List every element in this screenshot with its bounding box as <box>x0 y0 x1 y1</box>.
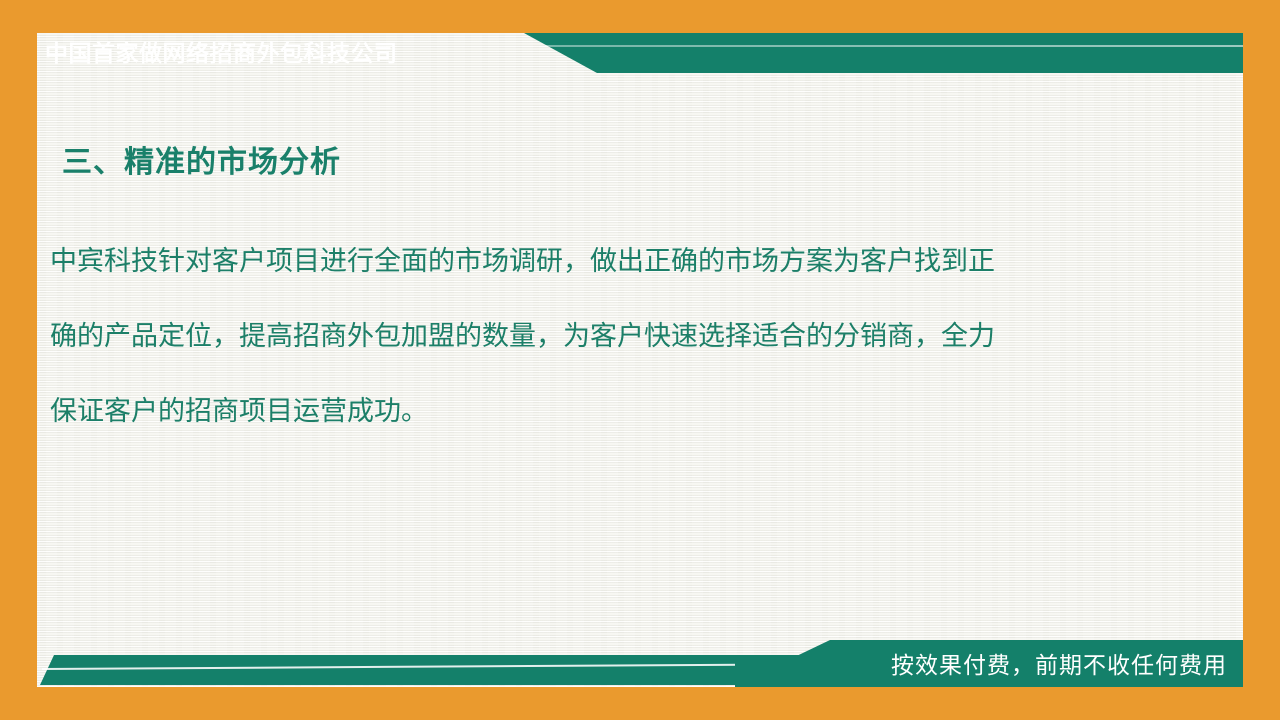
slide-canvas: 中国首家做网络招商外包科技公司 三、精准的市场分析 中宾科技针对客户项目进行全面… <box>0 0 1280 720</box>
footer-decor-bar-left <box>40 655 800 685</box>
frame-border-top <box>0 0 1280 33</box>
body-paragraph-line: 中宾科技针对客户项目进行全面的市场调研，做出正确的市场方案为客户找到正 <box>50 224 1182 299</box>
header-title: 中国首家做网络招商外包科技公司 <box>45 34 398 72</box>
body-paragraph: 中宾科技针对客户项目进行全面的市场调研，做出正确的市场方案为客户找到正 确的产品… <box>50 224 1182 449</box>
footer-tagline: 按效果付费，前期不收任何费用 <box>891 646 1227 684</box>
frame-border-right <box>1243 0 1280 720</box>
body-paragraph-line: 保证客户的招商项目运营成功。 <box>50 374 1182 449</box>
frame-border-left <box>0 0 37 720</box>
body-paragraph-line: 确的产品定位，提高招商外包加盟的数量，为客户快速选择适合的分销商，全力 <box>50 299 1182 374</box>
header-accent-line <box>545 45 1243 47</box>
frame-border-bottom <box>0 687 1280 720</box>
page-title: 三、精准的市场分析 <box>62 137 341 181</box>
